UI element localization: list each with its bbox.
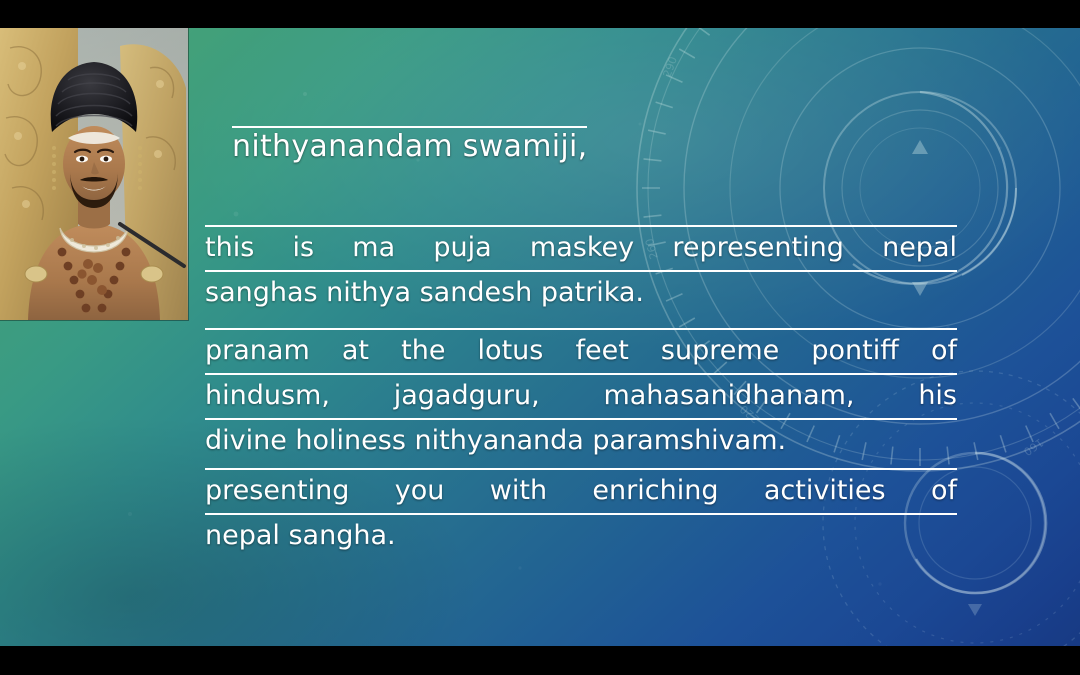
svg-text:260: 260 xyxy=(643,237,661,261)
ring-decoration xyxy=(810,358,1080,646)
paragraph-line: divine holiness nithyananda paramshivam. xyxy=(205,418,957,461)
speaker-portrait-image xyxy=(0,28,188,320)
speaker-video-thumbnail[interactable] xyxy=(0,28,188,320)
compass-dial-decoration: 0 320 290 260 220 160 120 80 40 xyxy=(610,28,1080,498)
paragraph-line: pranam at the lotus feet supreme pontiff… xyxy=(205,328,957,371)
letterbox-bottom xyxy=(0,646,1080,675)
paragraph-line: sanghas nithya sandesh patrika. xyxy=(205,270,957,313)
paragraph-line: nepal sangha. xyxy=(205,513,957,556)
slide-title: nithyanandam swamiji, xyxy=(232,126,587,165)
letterbox-top xyxy=(0,0,1080,28)
paragraph-line: this is ma puja maskey representing nepa… xyxy=(205,225,957,268)
slideshow-screen: 0 320 290 260 220 160 120 80 40 xyxy=(0,0,1080,675)
svg-text:160: 160 xyxy=(1021,436,1046,459)
paragraph-line: hindusm, jagadguru, mahasanidhanam, his xyxy=(205,373,957,416)
svg-text:290: 290 xyxy=(661,55,680,79)
svg-text:220: 220 xyxy=(737,402,761,425)
slide-paragraph-3: presenting you with enriching activities… xyxy=(205,468,957,558)
slide-paragraph-2: pranam at the lotus feet supreme pontiff… xyxy=(205,328,957,463)
slide-paragraph-1: this is ma puja maskey representing nepa… xyxy=(205,225,957,315)
paragraph-line: presenting you with enriching activities… xyxy=(205,468,957,511)
